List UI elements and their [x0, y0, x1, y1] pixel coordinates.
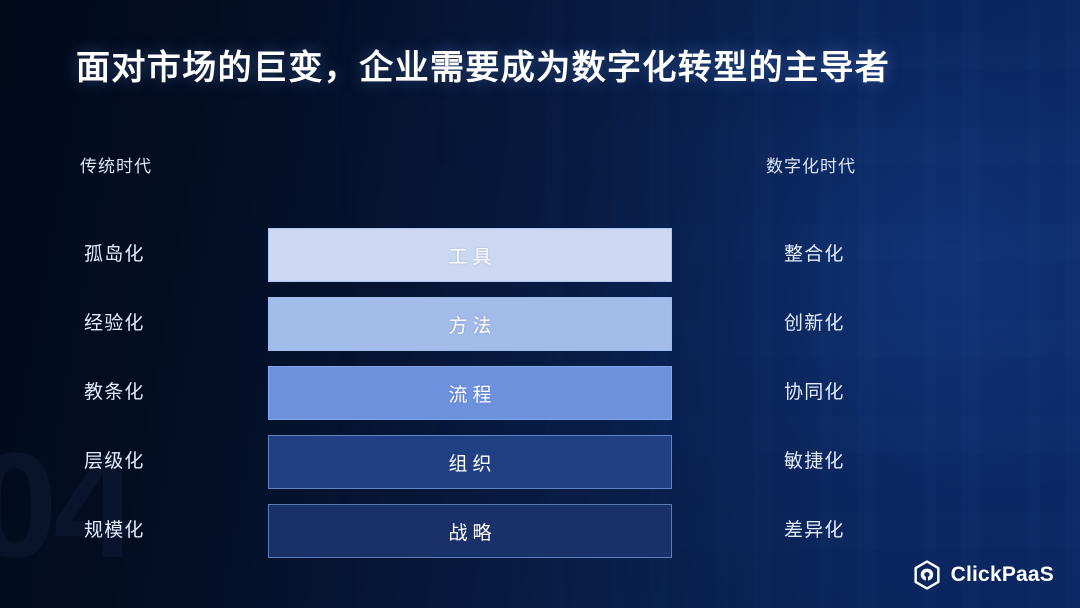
center-bar-organization[interactable]: 组织 [268, 435, 672, 489]
center-bar-method[interactable]: 方法 [268, 297, 672, 351]
center-bar-label: 方法 [443, 311, 496, 338]
center-bar-label: 工具 [443, 242, 496, 269]
column-header-traditional: 传统时代 [80, 152, 152, 177]
brand-logo-text: ClickPaaS [951, 563, 1054, 587]
table-row: 教条化 流程 协同化 [0, 366, 1080, 420]
center-bar-tool[interactable]: 工具 [268, 228, 672, 282]
center-bar-strategy[interactable]: 战略 [268, 504, 672, 558]
digital-label: 敏捷化 [784, 435, 845, 489]
digital-label: 整合化 [784, 228, 845, 282]
traditional-label: 层级化 [84, 435, 145, 489]
comparison-rows: 孤岛化 工具 整合化 经验化 方法 创新化 教条化 流程 协同化 层级化 组织 [0, 228, 1080, 558]
table-row: 孤岛化 工具 整合化 [0, 228, 1080, 282]
table-row: 层级化 组织 敏捷化 [0, 435, 1080, 489]
center-bar-label: 流程 [443, 380, 496, 407]
digital-label: 协同化 [784, 366, 845, 420]
slide-canvas: 04 面对市场的巨变，企业需要成为数字化转型的主导者 传统时代 数字化时代 孤岛… [0, 0, 1080, 608]
traditional-label: 孤岛化 [84, 228, 145, 282]
digital-label: 创新化 [784, 297, 845, 351]
column-header-digital: 数字化时代 [766, 152, 856, 177]
center-bar-label: 战略 [443, 518, 496, 545]
center-bar-label: 组织 [443, 449, 496, 476]
page-title: 面对市场的巨变，企业需要成为数字化转型的主导者 [76, 40, 890, 89]
brand-logo: ClickPaaS [912, 560, 1054, 590]
traditional-label: 经验化 [84, 297, 145, 351]
table-row: 经验化 方法 创新化 [0, 297, 1080, 351]
traditional-label: 规模化 [84, 504, 145, 558]
digital-label: 差异化 [784, 504, 845, 558]
center-bar-process[interactable]: 流程 [268, 366, 672, 420]
table-row: 规模化 战略 差异化 [0, 504, 1080, 558]
hexagon-logo-icon [912, 560, 942, 590]
traditional-label: 教条化 [84, 366, 145, 420]
